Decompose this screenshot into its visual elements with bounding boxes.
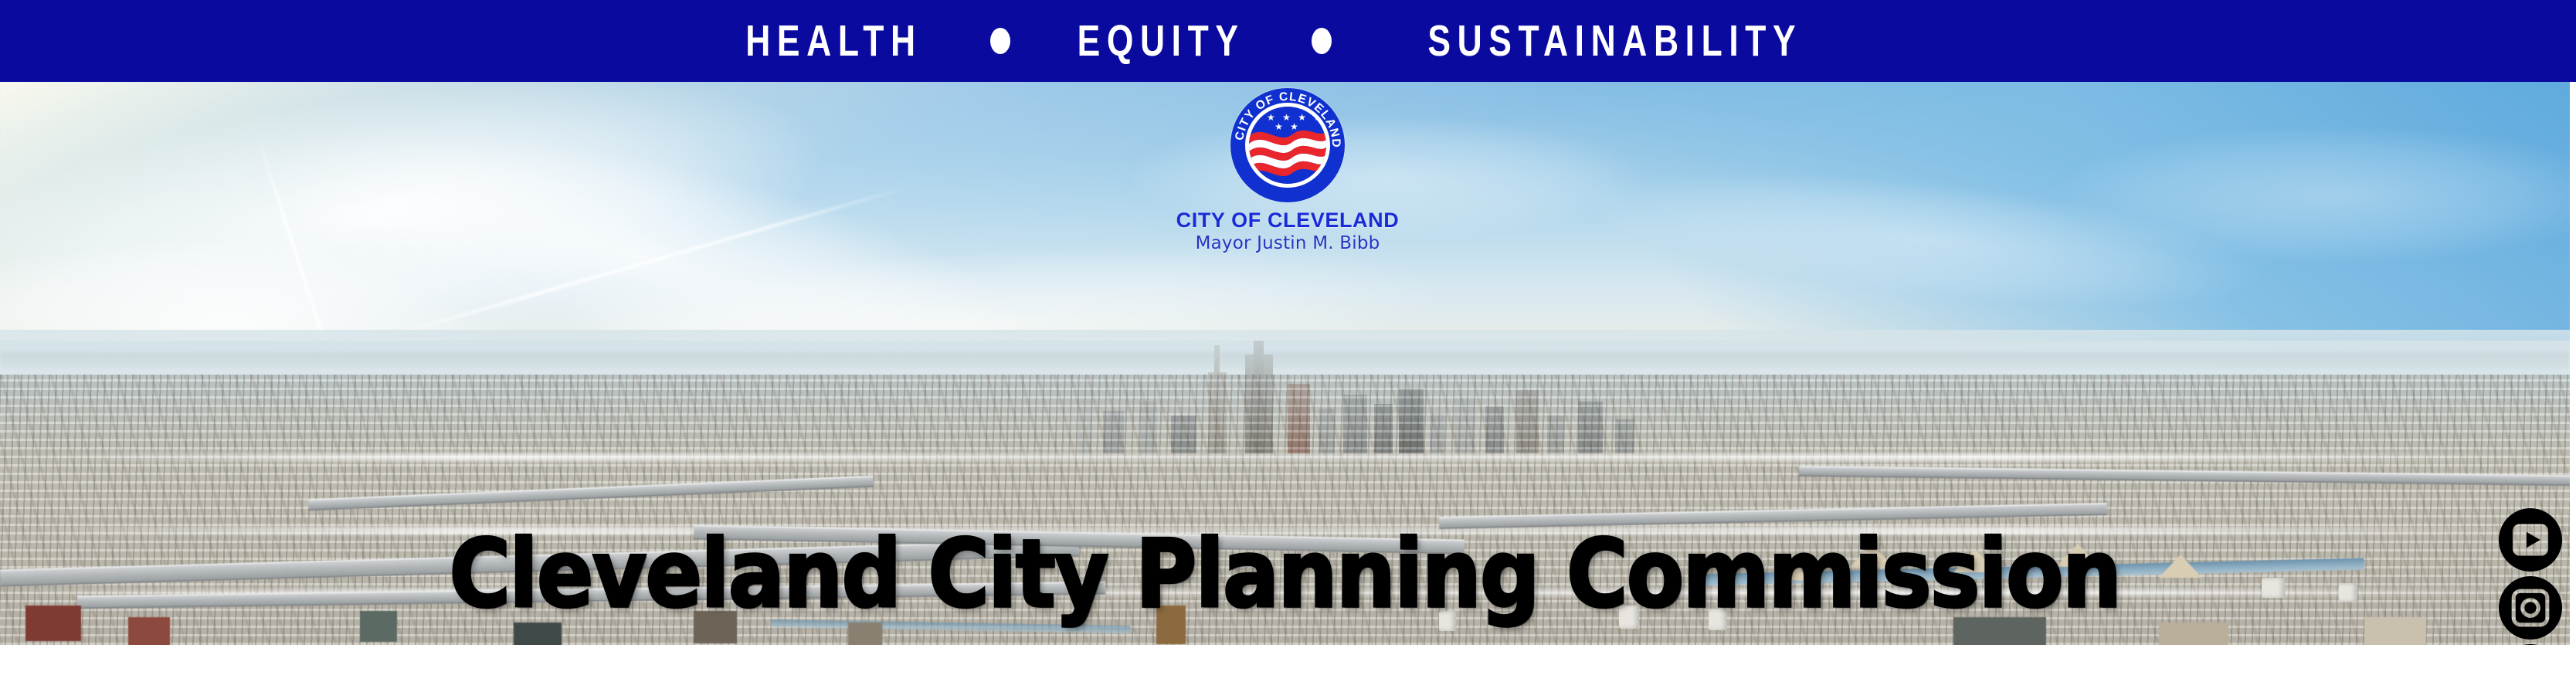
- tagline-banner: HEALTH EQUITY SUSTAINABILITY: [0, 0, 2576, 82]
- seal-inner-disc: ★ ★ ★ ★ ★ ★ ★: [1245, 103, 1330, 188]
- tagline-word-health: HEALTH: [745, 19, 921, 63]
- waving-us-flag-icon: [1249, 127, 1326, 182]
- bottom-white-gutter: [0, 645, 2576, 682]
- mayor-name-label: Mayor Justin M. Bibb: [1129, 234, 1446, 253]
- page-title: Cleveland City Planning Commission: [0, 528, 2570, 622]
- city-branding: CITY OF CLEVELAND OHIO ★ ★ ★ ★ ★ ★ ★: [1129, 88, 1446, 254]
- bullet-dot-icon: [990, 28, 1010, 54]
- tagline-group: HEALTH EQUITY SUSTAINABILITY: [721, 19, 1855, 63]
- seal-blue-field: ★ ★ ★ ★ ★ ★ ★: [1249, 107, 1326, 184]
- instagram-icon[interactable]: [2499, 576, 2562, 640]
- social-links: [2497, 508, 2564, 645]
- tagline-word-sustainability: SUSTAINABILITY: [1428, 19, 1803, 63]
- snow-band: [0, 453, 2570, 461]
- hero-photo: CITY OF CLEVELAND OHIO ★ ★ ★ ★ ★ ★ ★: [0, 82, 2570, 645]
- page-root: HEALTH EQUITY SUSTAINABILITY: [0, 0, 2576, 682]
- bullet-dot-icon: [1312, 28, 1332, 54]
- city-name-label: CITY OF CLEVELAND: [1129, 209, 1446, 231]
- rowhouses: [2159, 623, 2228, 645]
- tagline-word-equity: EQUITY: [1078, 19, 1245, 63]
- sky-blue-gradient: [1336, 82, 2570, 375]
- city-of-cleveland-seal-icon: CITY OF CLEVELAND OHIO ★ ★ ★ ★ ★ ★ ★: [1230, 88, 1345, 202]
- right-white-gutter: [2570, 82, 2576, 645]
- youtube-icon[interactable]: [2499, 508, 2562, 572]
